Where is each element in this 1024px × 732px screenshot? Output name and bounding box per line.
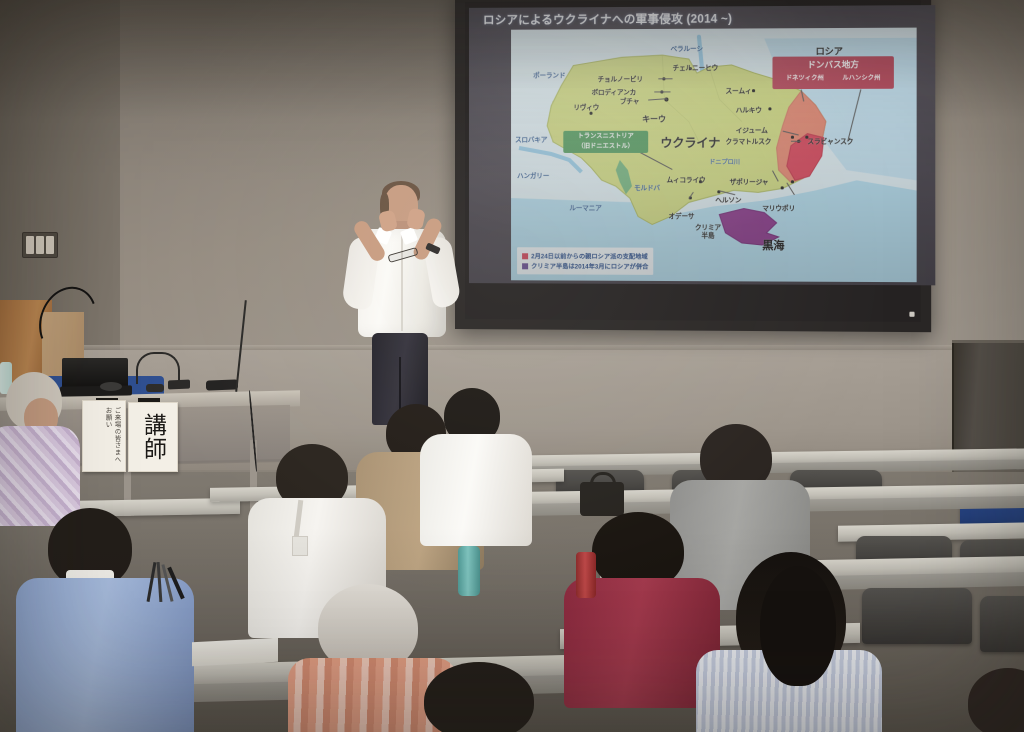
legend-text-crimea: クリミア半島は2014年3月にロシアが併合	[531, 261, 648, 271]
callout-donbas-title: ドンバス地方	[772, 58, 893, 71]
legend-text-pro-russian: 2月24日以前からの親ロシア派の支配地域	[531, 251, 648, 260]
callout-donbas-oblast-luhansk: ルハンシク州	[842, 73, 880, 82]
leader-kramatorsk	[791, 141, 801, 142]
map-label-kyiv: キーウ	[642, 114, 666, 125]
callout-donbas: ドンバス地方 ドネツィク州 ルハンシク州	[772, 56, 893, 89]
info-sign: ご来場の皆さまへ お願い	[82, 400, 126, 472]
map-label-zaporizhzhia: ザポリージャ	[730, 176, 769, 186]
legend-swatch-crimea	[522, 263, 528, 269]
microphone-base	[168, 380, 190, 390]
map-label-hungary: ハンガリー	[517, 170, 549, 180]
chair-row4-2[interactable]	[980, 596, 1024, 652]
map-label-poland: ポーランド	[533, 70, 565, 80]
map-label-black-sea: 黒海	[762, 237, 784, 253]
handbag-handle	[590, 472, 616, 488]
projected-slide-surface: ロシアによるウクライナへの軍事侵攻 (2014 ~)	[469, 5, 935, 285]
map-label-chornobyl: チョルノービリ	[598, 73, 643, 83]
notebook-open[interactable]	[192, 638, 278, 667]
city-dot-zaporizhzhia	[781, 186, 784, 189]
city-dot-lviv	[590, 112, 593, 115]
audience-hair-long-front	[760, 566, 836, 686]
map-label-moldova: モルドバ	[634, 182, 660, 192]
map-label-belarus: ベラルーシ	[671, 43, 703, 53]
callout-transnistria-line1: トランスニストリア	[563, 132, 648, 142]
light-switch-panel[interactable]	[22, 232, 58, 258]
audio-device[interactable]	[146, 384, 164, 392]
city-dot-kharkiv	[768, 107, 771, 110]
light-switch-1[interactable]	[26, 236, 34, 254]
map-label-odesa: オデーサ	[668, 210, 694, 220]
leader-chornobyl	[658, 78, 672, 79]
legend-row-pro-russian: 2月24日以前からの親ロシア派の支配地域	[522, 251, 648, 261]
map-label-bucha: ブチャ	[620, 96, 639, 106]
map-label-sumy: スームィ	[725, 85, 751, 95]
city-dot-izium	[791, 136, 794, 139]
map-label-mariupol: マリウポリ	[762, 203, 795, 213]
map-label-chernihiv: チェルニーヒウ	[673, 62, 719, 72]
lecturer-sign: 講師	[128, 402, 178, 472]
map-label-romania: ルーマニア	[569, 202, 601, 212]
light-switch-2[interactable]	[36, 236, 44, 254]
slide-title: ロシアによるウクライナへの軍事侵攻 (2014 ~)	[483, 9, 929, 28]
water-bottle-red[interactable]	[576, 552, 596, 598]
map-label-dnipro-river: ドニプロ川	[709, 157, 740, 166]
audience-person-floral	[0, 372, 76, 502]
audience-hair-dark-5	[424, 662, 534, 732]
ukraine-map: ベラルーシ ロシア ポーランド スロバキア ハンガリー ルーマニア モルドバ ウ…	[511, 28, 917, 283]
audience-white-top	[420, 434, 532, 546]
map-label-ukraine: ウクライナ	[660, 134, 720, 151]
legend-swatch-pro-russian	[522, 253, 528, 259]
map-label-sloviansk: スラビャンスク	[807, 136, 853, 146]
audience-person-front-dark	[408, 662, 558, 732]
map-label-lviv: リヴィウ	[573, 102, 599, 112]
water-bottle-teal[interactable]	[458, 546, 480, 596]
map-label-crimea: クリミア 半島	[695, 225, 721, 241]
presenter-hand-right	[406, 208, 426, 231]
presentation-remote[interactable]	[206, 379, 238, 390]
audience-person-white-blouse	[424, 388, 540, 548]
map-label-izium: イジューム	[736, 125, 768, 135]
leader-borodianka	[654, 91, 670, 92]
map-label-kherson: ヘルソン	[715, 194, 741, 204]
map-label-mykolaiv: ムィコライウ	[666, 174, 705, 184]
map-label-slovakia: スロバキア	[515, 134, 547, 144]
map-label-kramatorsk: クラマトルスク	[725, 136, 771, 146]
light-switch-3[interactable]	[46, 236, 54, 254]
city-dot-mariupol	[791, 180, 794, 183]
lecture-hall-scene: ロシアによるウクライナへの軍事侵攻 (2014 ~)	[0, 0, 1024, 732]
audience-person-edge-right	[958, 668, 1024, 732]
audience-person-striped-blouse	[706, 552, 886, 732]
city-dot-sumy	[752, 89, 755, 92]
callout-transnistria-line2: （旧ドニエストル）	[563, 142, 648, 152]
audience-hair-edge	[968, 668, 1024, 732]
map-label-kharkiv: ハルキウ	[736, 104, 762, 114]
pen-1[interactable]	[147, 562, 157, 602]
pen-cluster	[140, 562, 186, 608]
audience-id-badge	[292, 536, 308, 556]
conference-speaker-puck[interactable]	[100, 382, 122, 391]
map-legend: 2月24日以前からの親ロシア派の支配地域 クリミア半島は2014年3月にロシアが…	[517, 247, 653, 275]
legend-row-crimea: クリミア半島は2014年3月にロシアが併合	[522, 261, 648, 271]
callout-donbas-oblast-donetsk: ドネツィク州	[786, 73, 824, 82]
projection-screen: ロシアによるウクライナへの軍事侵攻 (2014 ~)	[455, 0, 931, 332]
callout-transnistria: トランスニストリア （旧ドニエストル）	[563, 131, 648, 153]
slide: ロシアによるウクライナへの軍事侵攻 (2014 ~)	[469, 5, 935, 285]
audience-person-blue-shirt	[22, 508, 192, 732]
